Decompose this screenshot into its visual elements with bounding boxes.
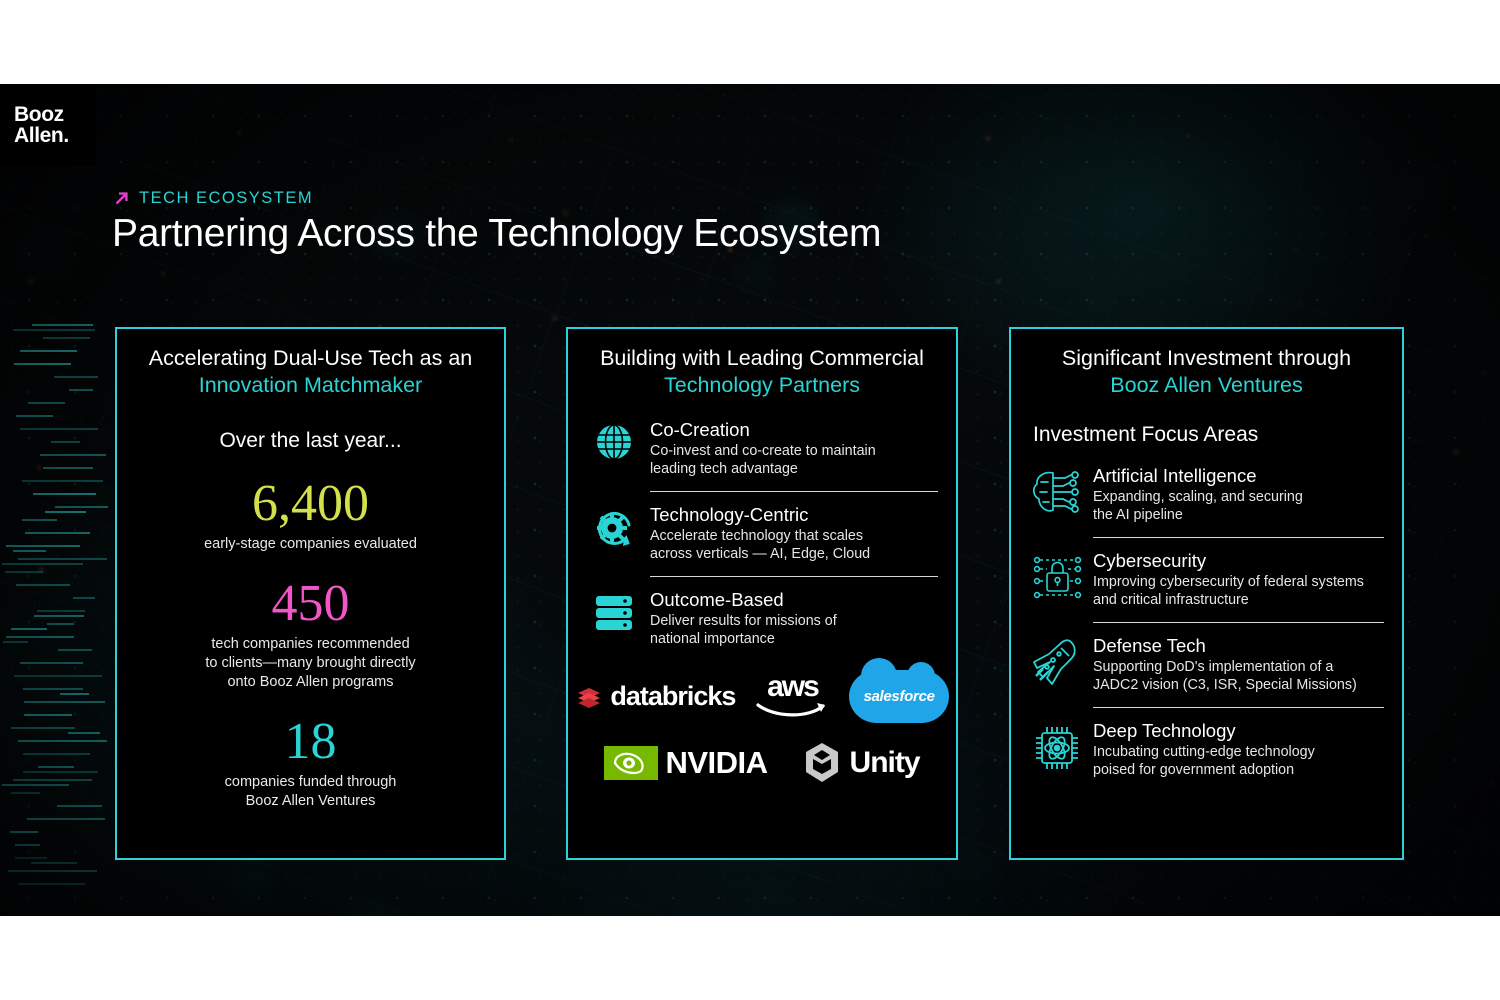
right-feature-list: Artificial IntelligenceExpanding, scalin…	[1011, 459, 1402, 779]
partner-logo-wall: databricks aws salesforce	[568, 648, 956, 785]
feature-separator	[1093, 707, 1384, 708]
salesforce-logo: salesforce	[849, 670, 948, 723]
feature-title: Outcome-Based	[650, 589, 837, 611]
feature-row: Technology-CentricAccelerate technology …	[586, 504, 938, 563]
feature-description: Supporting DoD's implementation of aJADC…	[1093, 658, 1357, 694]
panel-middle-title-line2: Technology Partners	[580, 372, 944, 399]
nvidia-logo: NVIDIA	[604, 745, 767, 781]
feature-title: Artificial Intelligence	[1093, 465, 1303, 487]
databricks-mark-icon	[575, 683, 603, 711]
stat-block: 450 tech companies recommendedto clients…	[117, 575, 504, 692]
fighter-jet-icon	[1029, 635, 1085, 688]
databricks-logo: databricks	[575, 681, 735, 712]
stat-value: 6,400	[117, 475, 504, 533]
nvidia-wordmark: NVIDIA	[665, 745, 767, 781]
stat-block: 6,400 early-stage companies evaluated	[117, 475, 504, 554]
unity-cube-icon	[802, 741, 842, 785]
feature-title: Co-Creation	[650, 419, 876, 441]
panel-middle-title-line1: Building with Leading Commercial	[600, 346, 924, 370]
feature-row: Deep TechnologyIncubating cutting-edge t…	[1029, 720, 1384, 779]
panel-right-title: Significant Investment through Booz Alle…	[1011, 329, 1402, 399]
aws-smile-icon	[755, 700, 829, 720]
padlock-circuit-icon	[1029, 550, 1085, 601]
over-last-year-text: Over the last year...	[117, 429, 504, 453]
feature-title: Defense Tech	[1093, 635, 1357, 657]
panel-booz-allen-ventures: Significant Investment through Booz Alle…	[1009, 327, 1404, 860]
globe-icon	[586, 419, 642, 462]
feature-title: Technology-Centric	[650, 504, 870, 526]
panel-technology-partners: Building with Leading Commercial Technol…	[566, 327, 958, 860]
booz-allen-logo: Booz Allen.	[0, 84, 96, 166]
feature-row: CybersecurityImproving cybersecurity of …	[1029, 550, 1384, 609]
slide-canvas: Booz Allen. TECH ECOSYSTEM Partnering Ac…	[0, 84, 1500, 916]
eyebrow: TECH ECOSYSTEM	[113, 189, 313, 208]
ai-brain-circuit-icon	[1029, 465, 1085, 516]
server-stack-icon	[586, 589, 642, 634]
page-title: Partnering Across the Technology Ecosyst…	[112, 212, 881, 256]
partner-logo-row: databricks aws salesforce	[588, 670, 936, 723]
partner-logo-row: NVIDIA Unity	[588, 741, 936, 785]
unity-logo: Unity	[802, 741, 920, 785]
panel-left-title-line2: Innovation Matchmaker	[129, 372, 492, 399]
logo-line-1: Booz	[14, 104, 69, 125]
salesforce-wordmark: salesforce	[863, 688, 934, 705]
aws-logo: aws	[755, 674, 829, 720]
panel-right-title-line1: Significant Investment through	[1062, 346, 1351, 370]
logo-line-2: Allen.	[14, 125, 69, 146]
feature-description: Expanding, scaling, and securingthe AI p…	[1093, 488, 1303, 524]
panel-left-title: Accelerating Dual-Use Tech as an Innovat…	[117, 329, 504, 399]
stat-value: 18	[117, 713, 504, 771]
feature-row: Co-CreationCo-invest and co-create to ma…	[586, 419, 938, 478]
feature-description: Incubating cutting-edge technologypoised…	[1093, 743, 1315, 779]
investment-focus-heading: Investment Focus Areas	[1011, 399, 1402, 459]
stat-value: 450	[117, 575, 504, 633]
arrow-up-right-icon	[113, 190, 130, 207]
feature-row: Defense TechSupporting DoD's implementat…	[1029, 635, 1384, 694]
panel-innovation-matchmaker: Accelerating Dual-Use Tech as an Innovat…	[115, 327, 506, 860]
feature-row: Artificial IntelligenceExpanding, scalin…	[1029, 465, 1384, 524]
feature-separator	[1093, 537, 1384, 538]
feature-description: Accelerate technology that scalesacross …	[650, 527, 870, 563]
stat-label: early-stage companies evaluated	[117, 535, 504, 554]
feature-title: Cybersecurity	[1093, 550, 1364, 572]
feature-description: Improving cybersecurity of federal syste…	[1093, 573, 1364, 609]
nvidia-eye-icon	[604, 746, 658, 780]
panel-right-title-line2: Booz Allen Ventures	[1023, 372, 1390, 399]
databricks-wordmark: databricks	[610, 681, 735, 712]
feature-description: Co-invest and co-create to maintainleadi…	[650, 442, 876, 478]
feature-separator	[1093, 622, 1384, 623]
stat-label: tech companies recommendedto clients—man…	[117, 635, 504, 692]
feature-title: Deep Technology	[1093, 720, 1315, 742]
stat-label: companies funded throughBooz Allen Ventu…	[117, 773, 504, 811]
panel-middle-title: Building with Leading Commercial Technol…	[568, 329, 956, 399]
feature-row: Outcome-BasedDeliver results for mission…	[586, 589, 938, 648]
feature-separator	[650, 491, 938, 492]
gear-refresh-icon	[586, 504, 642, 551]
panel-left-title-line1: Accelerating Dual-Use Tech as an	[149, 346, 472, 370]
middle-feature-list: Co-CreationCo-invest and co-create to ma…	[568, 399, 956, 648]
chip-atom-icon	[1029, 720, 1085, 773]
stat-block: 18 companies funded throughBooz Allen Ve…	[117, 713, 504, 811]
feature-separator	[650, 576, 938, 577]
aws-wordmark: aws	[767, 674, 818, 700]
eyebrow-label: TECH ECOSYSTEM	[139, 189, 313, 208]
feature-description: Deliver results for missions ofnational …	[650, 612, 837, 648]
unity-wordmark: Unity	[850, 746, 920, 780]
